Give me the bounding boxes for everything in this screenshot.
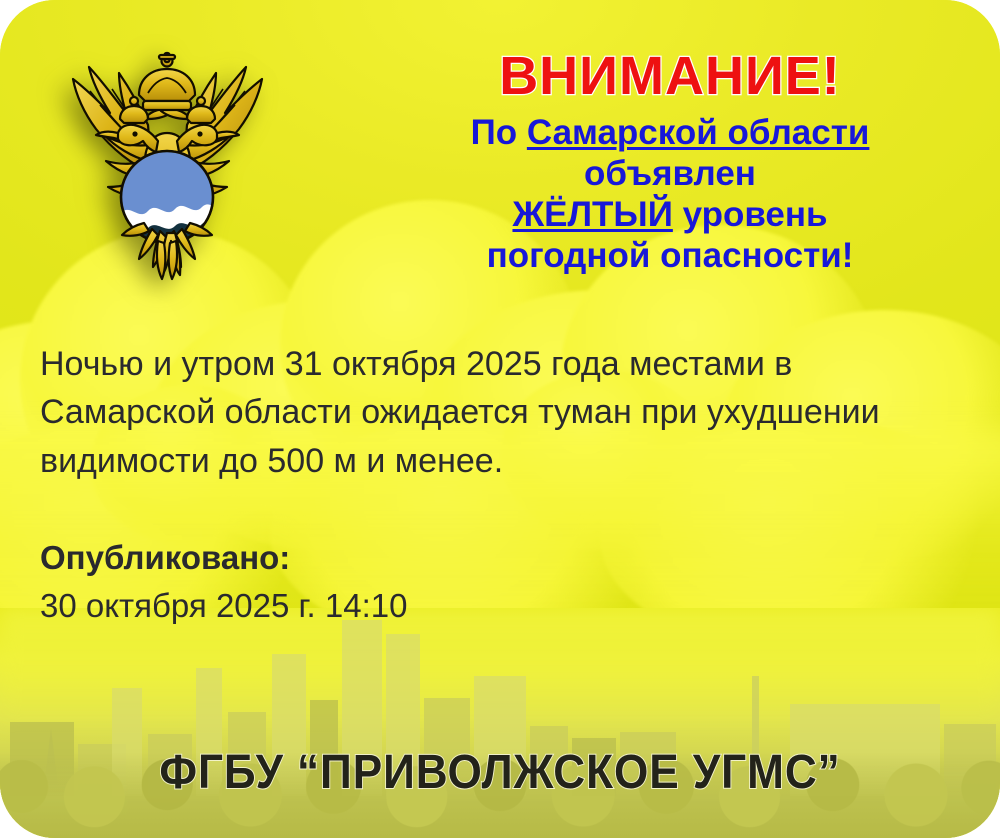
samara-cityscape-band (0, 608, 1000, 838)
subhead-line4: погодной опасности! (487, 236, 854, 275)
published-label: Опубликовано: (40, 536, 740, 580)
subhead-line2: объявлен (584, 154, 756, 193)
subhead-line3-suffix: уровень (673, 195, 828, 234)
organization-brand: ФГБУ “ПРИВОЛЖСКОЕ УГМС” (40, 745, 960, 800)
region-name: Самарской области (527, 113, 870, 152)
header-block: ВНИМАНИЕ! По Самарской области объявлен … (380, 48, 960, 276)
subhead-line1-prefix: По (471, 113, 527, 152)
published-datetime: 30 октября 2025 г. 14:10 (40, 584, 740, 628)
attention-headline: ВНИМАНИЕ! (380, 48, 960, 105)
warning-subheading: По Самарской области объявлен ЖЁЛТЫЙ уро… (380, 113, 960, 277)
roshydromet-emblem (40, 45, 295, 295)
published-block: Опубликовано: 30 октября 2025 г. 14:10 (40, 536, 740, 628)
warning-description: Ночью и утром 31 октября 2025 года места… (40, 340, 900, 485)
weather-warning-card: ВНИМАНИЕ! По Самарской области объявлен … (0, 0, 1000, 838)
danger-level: ЖЁЛТЫЙ (512, 195, 672, 234)
